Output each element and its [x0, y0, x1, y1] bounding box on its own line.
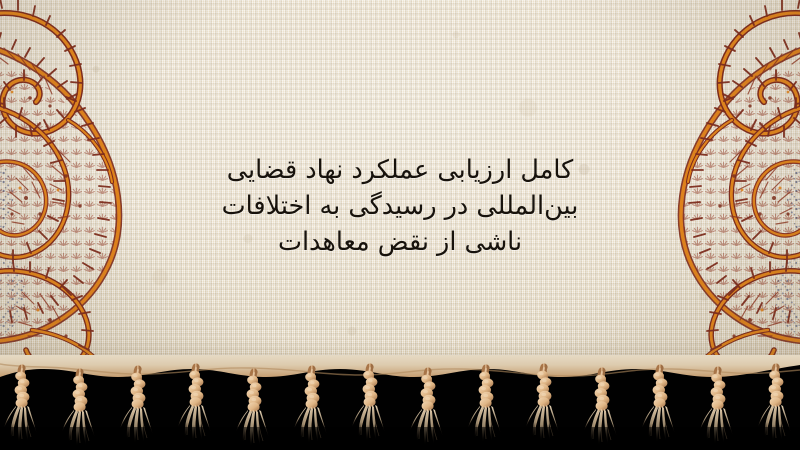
title-line-2: بین‌المللی در رسیدگی به اختلافات	[185, 188, 615, 224]
knotted-tassel-fringe	[0, 355, 800, 450]
title-line-1: کامل ارزیابی عملکرد نهاد قضایی	[185, 152, 615, 188]
slide-title: کامل ارزیابی عملکرد نهاد قضایی بین‌الملل…	[185, 152, 615, 260]
title-line-3: ناشی از نقض معاهدات	[185, 224, 615, 260]
slide-canvas: کامل ارزیابی عملکرد نهاد قضایی بین‌الملل…	[0, 0, 800, 450]
